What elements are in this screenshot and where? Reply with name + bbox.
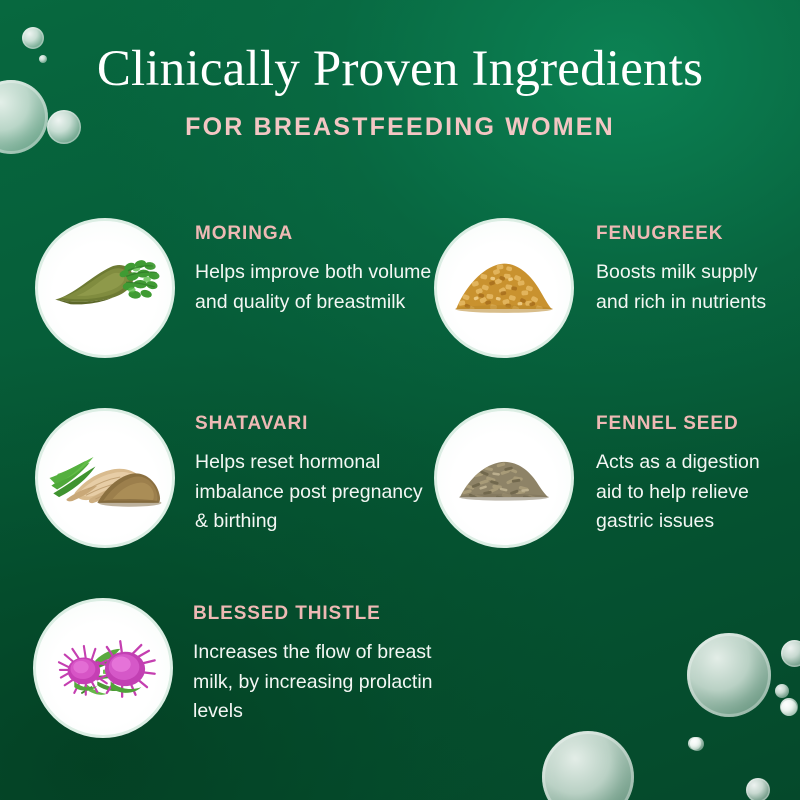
ingredient-name: BLESSED THISTLE <box>193 604 463 625</box>
shatavari-root-and-powder-icon <box>35 408 175 548</box>
fenugreek-seeds-pile-icon <box>434 218 574 358</box>
ingredient-description: Increases the flow of breast milk, by in… <box>193 638 463 727</box>
ingredient-card-fennel-seed: FENNEL SEED Acts as a digestion aid to h… <box>434 408 784 548</box>
ingredients-grid: MORINGA Helps improve both volume and qu… <box>0 0 800 800</box>
ingredient-name: FENUGREEK <box>596 224 784 245</box>
ingredient-text-fennel-seed: FENNEL SEED Acts as a digestion aid to h… <box>574 408 784 537</box>
ingredient-text-fenugreek: FENUGREEK Boosts milk supply and rich in… <box>574 218 784 317</box>
ingredient-description: Helps improve both volume and quality of… <box>195 258 435 317</box>
ingredient-text-shatavari: SHATAVARI Helps reset hormonal imbalance… <box>175 408 435 537</box>
ingredient-card-blessed-thistle: BLESSED THISTLE Increases the flow of br… <box>33 598 463 738</box>
moringa-powder-and-leaves-icon <box>35 218 175 358</box>
blessed-thistle-flowers-icon <box>33 598 173 738</box>
ingredient-card-moringa: MORINGA Helps improve both volume and qu… <box>35 218 435 358</box>
ingredients-poster: Clinically Proven Ingredients FOR BREAST… <box>0 0 800 800</box>
ingredient-name: SHATAVARI <box>195 414 435 435</box>
ingredient-card-fenugreek: FENUGREEK Boosts milk supply and rich in… <box>434 218 784 358</box>
fennel-seeds-pile-icon <box>434 408 574 548</box>
ingredient-card-shatavari: SHATAVARI Helps reset hormonal imbalance… <box>35 408 435 548</box>
ingredient-name: FENNEL SEED <box>596 414 784 435</box>
ingredient-text-blessed-thistle: BLESSED THISTLE Increases the flow of br… <box>173 598 463 727</box>
ingredient-description: Acts as a digestion aid to help relieve … <box>596 448 784 537</box>
ingredient-text-moringa: MORINGA Helps improve both volume and qu… <box>175 218 435 317</box>
ingredient-description: Helps reset hormonal imbalance post preg… <box>195 448 435 537</box>
ingredient-name: MORINGA <box>195 224 435 245</box>
ingredient-description: Boosts milk supply and rich in nutrients <box>596 258 784 317</box>
